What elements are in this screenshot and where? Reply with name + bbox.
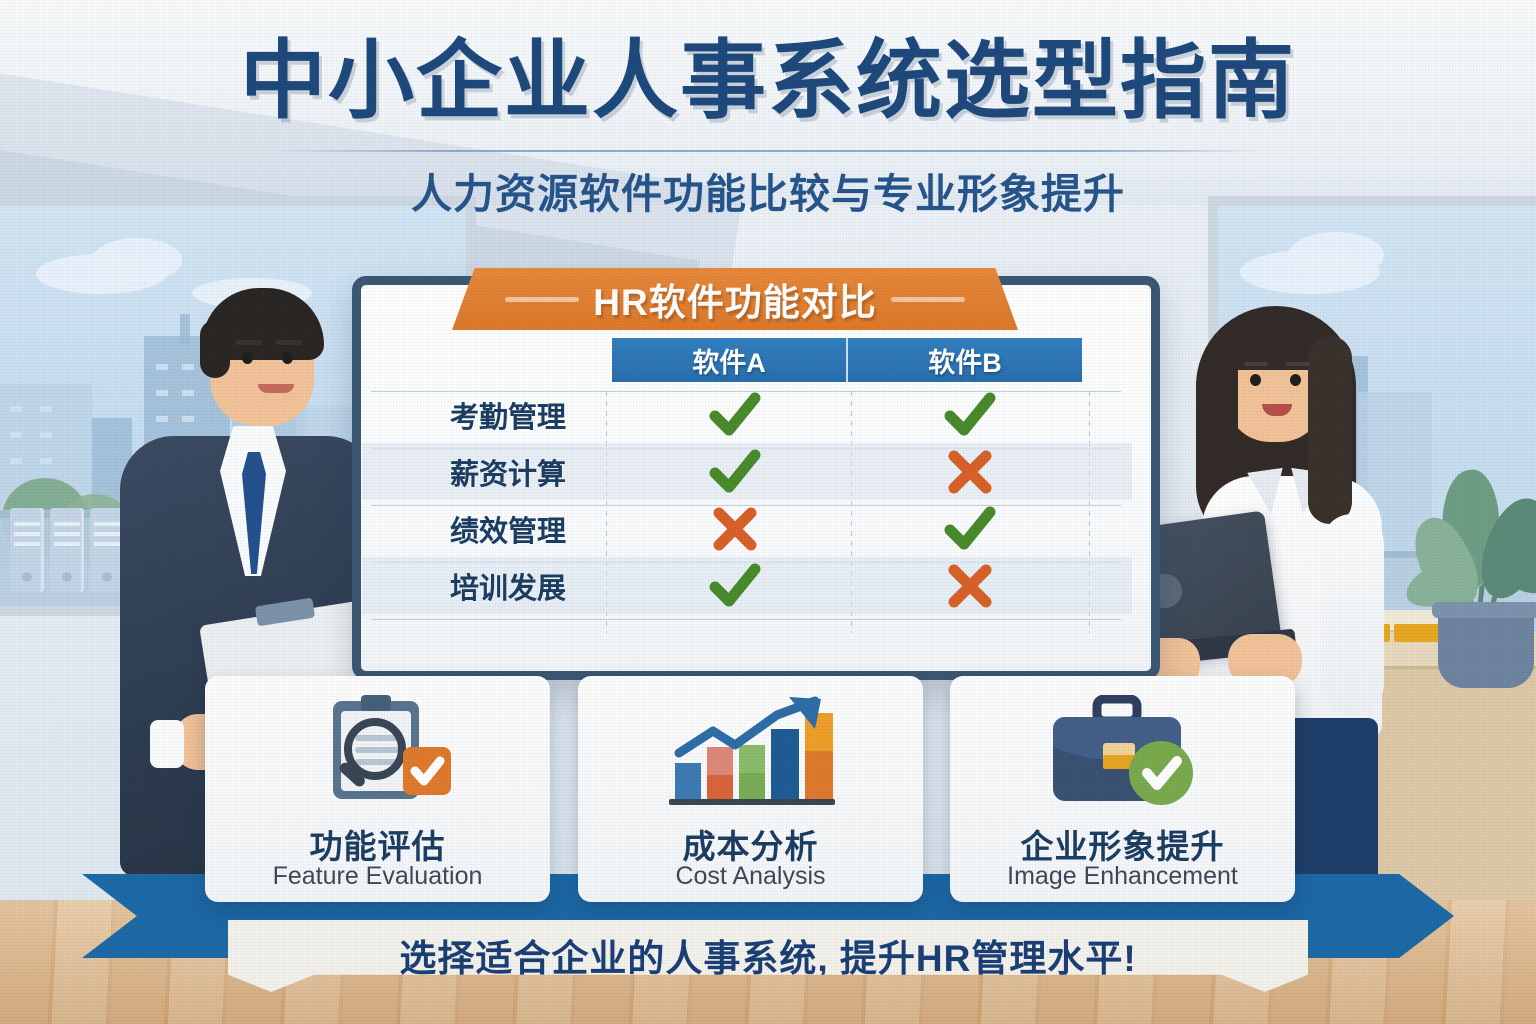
shirt-cuff	[150, 720, 184, 768]
bar-chart-growth-icon	[578, 692, 923, 810]
column-header-software-a: 软件A	[612, 338, 846, 382]
row-label: 绩效管理	[398, 500, 618, 557]
ribbon-dash-right	[891, 297, 965, 302]
cell-software-b-cross-icon	[852, 557, 1087, 614]
eye	[242, 352, 253, 364]
briefcase-check-icon	[950, 692, 1295, 810]
board-title-ribbon: HR软件功能对比	[452, 268, 1018, 330]
eye	[282, 352, 293, 364]
page-subtitle: 人力资源软件功能比较与专业形象提升	[0, 170, 1536, 219]
column-header-software-b: 软件B	[846, 338, 1082, 382]
card-title-en: Cost Analysis	[578, 862, 923, 891]
table-row: 培训发展	[362, 557, 1132, 614]
hair-strand	[1206, 340, 1238, 480]
arm-right	[1322, 514, 1384, 714]
mouth	[258, 384, 294, 393]
board-title-text: HR软件功能对比	[593, 272, 876, 326]
cell-software-b-check-icon	[852, 500, 1087, 557]
table-row: 薪资计算	[362, 443, 1132, 500]
card-title-cn: 企业形象提升	[950, 820, 1295, 868]
table-row: 考勤管理	[362, 386, 1132, 443]
table-header-row: 软件A 软件B	[612, 338, 1082, 382]
cloud-icon	[92, 238, 182, 282]
binder-icon	[10, 508, 44, 592]
card-title-en: Image Enhancement	[950, 862, 1295, 891]
ribbon-dash-left	[505, 297, 579, 302]
cell-software-b-check-icon	[852, 386, 1087, 443]
card-title-cn: 功能评估	[205, 820, 550, 868]
row-label: 培训发展	[398, 557, 618, 614]
eye	[1290, 374, 1301, 386]
hair-side	[200, 320, 230, 378]
card-image-enhancement[interactable]: 企业形象提升 Image Enhancement	[950, 676, 1295, 902]
eye	[1250, 374, 1261, 386]
cell-software-a-cross-icon	[617, 500, 852, 557]
plant-pot	[1438, 610, 1534, 688]
hair-strand	[1308, 336, 1352, 524]
eyebrow	[236, 340, 262, 345]
cloud-icon	[1288, 232, 1384, 278]
card-feature-evaluation[interactable]: 功能评估 Feature Evaluation	[205, 676, 550, 902]
cell-software-a-check-icon	[617, 557, 852, 614]
title-divider	[272, 150, 1264, 152]
row-label: 薪资计算	[398, 443, 618, 500]
cell-software-a-check-icon	[617, 443, 852, 500]
eyebrow	[276, 340, 302, 345]
card-title-cn: 成本分析	[578, 820, 923, 868]
cell-software-b-cross-icon	[852, 443, 1087, 500]
cell-software-a-check-icon	[617, 386, 852, 443]
clipboard-magnifier-check-icon	[205, 692, 550, 810]
card-title-en: Feature Evaluation	[205, 862, 550, 891]
page-title: 中小企业人事系统选型指南	[0, 38, 1536, 124]
infographic-poster: 中小企业人事系统选型指南 人力资源软件功能比较与专业形象提升 软件A 软件B 考…	[0, 0, 1536, 1024]
eyebrow	[1244, 362, 1268, 366]
binder-icon	[50, 508, 84, 592]
card-cost-analysis[interactable]: 成本分析 Cost Analysis	[578, 676, 923, 902]
row-label: 考勤管理	[398, 386, 618, 443]
eyebrow	[1286, 362, 1310, 366]
table-row: 绩效管理	[362, 500, 1132, 557]
footer-banner-text: 选择适合企业的人事系统, 提升HR管理水平!	[228, 928, 1308, 982]
